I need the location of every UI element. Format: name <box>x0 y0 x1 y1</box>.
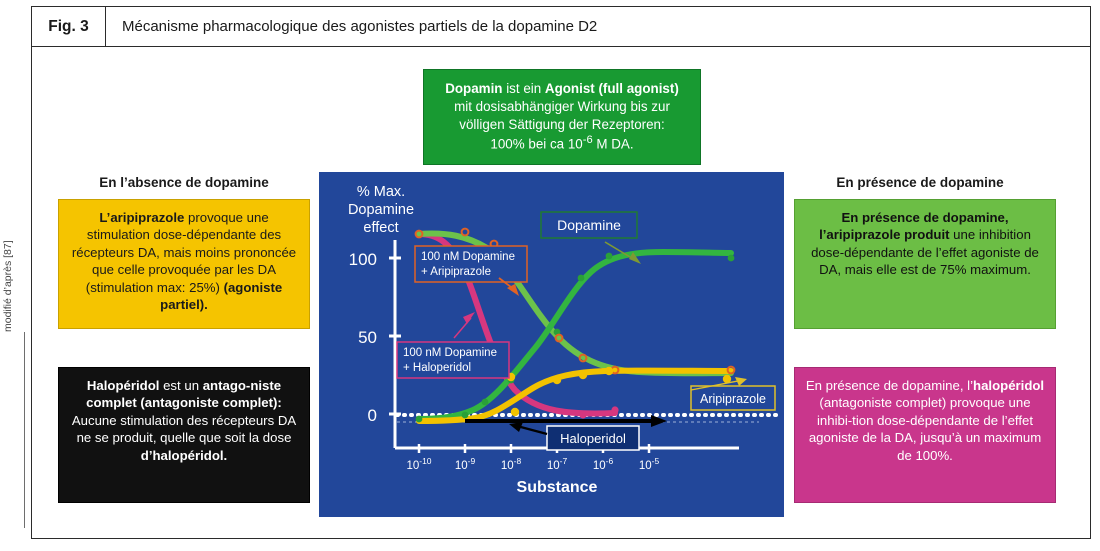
black-bold-1: Halopéridol <box>87 378 160 393</box>
x-tick-label-3: 10-8 <box>501 456 522 472</box>
y-tick-label-100: 100 <box>349 250 377 269</box>
callout-line-2: mit dosisabhängiger Wirkung bis zur <box>454 98 670 116</box>
x-tick-label-5: 10-6 <box>593 456 614 472</box>
x-tick-label-2: 10-9 <box>455 456 476 472</box>
callout-mid: ist ein <box>502 81 544 96</box>
callout-line4-exp: -6 <box>583 134 593 146</box>
x-axis-title: Substance <box>517 479 598 496</box>
x-tick-label-6: 10-5 <box>639 456 660 472</box>
heading-absence-dopamine: En l’absence de dopamine <box>54 175 314 190</box>
y-axis-label-line2: Dopamine <box>348 202 414 218</box>
callout-aripiprazole-partial-agonist: L’aripiprazole provoque une stimulation … <box>58 199 310 329</box>
figure-credit: modifié d’après [87] <box>2 152 16 332</box>
black-text-2: Aucune stimulation des récepteurs DA ne … <box>72 413 296 445</box>
callout-haloperidol-inhibition: En présence de dopamine, l’halopéridol (… <box>794 367 1056 503</box>
figure-content: En l’absence de dopamine En présence de … <box>32 47 1090 538</box>
y-axis-label-line3: effect <box>363 220 398 236</box>
figure-frame: Fig. 3 Mécanisme pharmacologique des ago… <box>31 6 1091 539</box>
y-axis-label-line1: % Max. <box>357 184 405 200</box>
heading-presence-dopamine: En présence de dopamine <box>790 175 1050 190</box>
annotation-dopamine-haloperidol: 100 nM Dopamine + Haloperidol <box>397 312 509 378</box>
callout-line4-pre: 100% bei ca 10 <box>490 137 582 152</box>
callout-line4-post: M DA. <box>593 137 634 152</box>
black-bold-3: d’halopéridol. <box>141 448 227 463</box>
annotation-dop-aripi-line2: + Aripiprazole <box>421 266 491 278</box>
callout-line-4: 100% bei ca 10-6 M DA. <box>490 133 633 153</box>
callout-bold-dopamin: Dopamin <box>445 81 502 96</box>
magenta-text-1: En présence de dopamine, l’ <box>806 378 973 393</box>
annotation-haloperidol-label: Haloperidol <box>560 431 626 446</box>
annotation-dop-halo-line1: 100 nM Dopamine <box>403 347 497 359</box>
black-text-1: est un <box>159 378 202 393</box>
annotation-aripiprazole-label: Aripiprazole <box>700 392 766 406</box>
figure-number: Fig. 3 <box>32 7 106 46</box>
annotation-dopamine-label: Dopamine <box>557 217 621 233</box>
annotation-dop-halo-line2: + Haloperidol <box>403 362 471 374</box>
callout-aripiprazole-inhibition: En présence de dopamine, l’aripiprazole … <box>794 199 1056 329</box>
magenta-text-2: (antagoniste complet) provoque une inhib… <box>809 395 1041 462</box>
annotation-haloperidol: Haloperidol <box>509 422 639 450</box>
credit-divider <box>24 332 25 528</box>
callout-line-3: völligen Sättigung der Rezeptoren: <box>459 116 664 134</box>
annotation-aripiprazole: Aripiprazole <box>691 377 775 410</box>
x-tick-label-4: 10-7 <box>547 456 568 472</box>
figure-root: modifié d’après [87] Fig. 3 Mécanisme ph… <box>0 0 1100 551</box>
y-tick-label-0: 0 <box>368 406 377 425</box>
callout-dopamine-full-agonist: Dopamin ist ein Agonist (full agonist) m… <box>423 69 701 165</box>
figure-title: Mécanisme pharmacologique des agonistes … <box>106 7 597 46</box>
annotation-dop-aripi-line1: 100 nM Dopamine <box>421 251 515 263</box>
callout-line-1: Dopamin ist ein Agonist (full agonist) <box>445 80 679 98</box>
yellow-bold-1: L’aripiprazole <box>99 210 184 225</box>
figure-caption-bar: Fig. 3 Mécanisme pharmacologique des ago… <box>32 7 1090 47</box>
callout-bold-agonist: Agonist (full agonist) <box>545 81 679 96</box>
x-tick-label-1: 10-10 <box>406 456 431 472</box>
chart-svg: % Max. Dopamine effect 100 50 0 <box>319 172 784 517</box>
y-tick-label-50: 50 <box>358 328 377 347</box>
callout-haloperidol-full-antagonist: Halopéridol est un antago-niste complet … <box>58 367 310 503</box>
magenta-bold-1: halopéridol <box>973 378 1044 393</box>
dose-response-chart: % Max. Dopamine effect 100 50 0 <box>319 172 784 517</box>
